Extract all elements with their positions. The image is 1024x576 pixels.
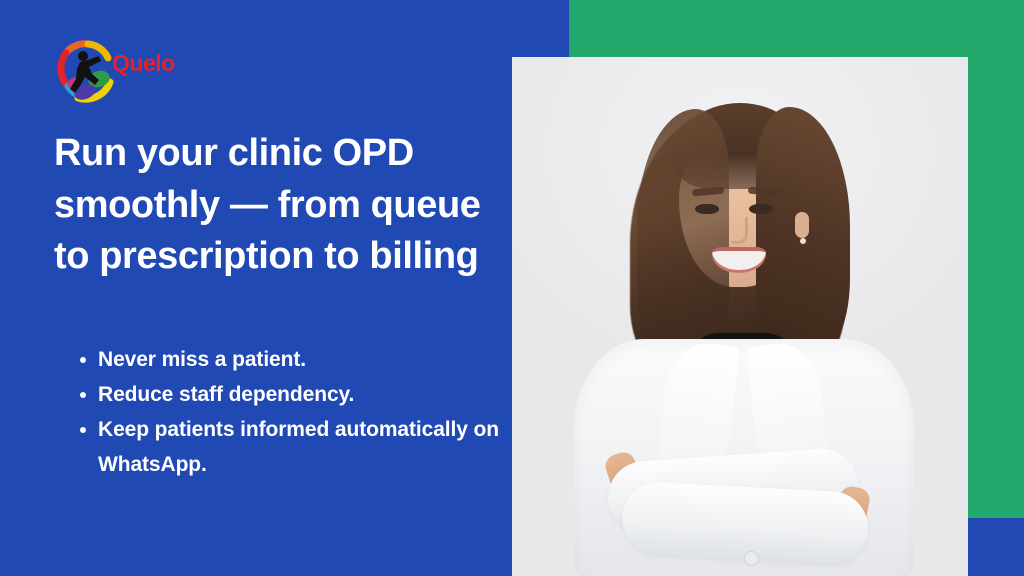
- benefit-list: Never miss a patient. Reduce staff depen…: [70, 342, 508, 482]
- coat-button: [744, 551, 759, 566]
- ear-right: [795, 212, 809, 238]
- brand-logo[interactable]: Quelo: [52, 36, 170, 106]
- list-item: Keep patients informed automatically on …: [98, 412, 508, 482]
- logo-wordmark: Quelo: [112, 52, 175, 75]
- doctor-figure: [512, 57, 968, 576]
- nose: [731, 217, 748, 244]
- page-title: Run your clinic OPD smoothly — from queu…: [54, 128, 500, 283]
- marketing-slide: Quelo Run your clinic OPD smoothly — fro…: [0, 0, 1024, 576]
- list-item: Never miss a patient.: [98, 342, 508, 377]
- doctor-photo: [512, 57, 968, 576]
- list-item: Reduce staff dependency.: [98, 377, 508, 412]
- eye-right: [749, 204, 773, 214]
- earring: [800, 238, 806, 244]
- eye-left: [695, 204, 719, 214]
